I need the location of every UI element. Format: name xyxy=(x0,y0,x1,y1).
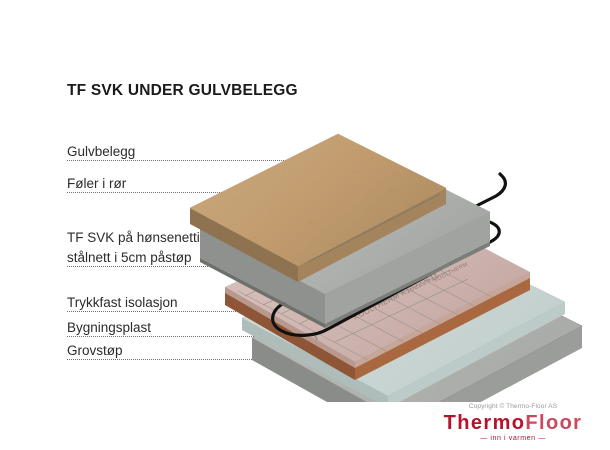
brand-tagline: — inn i varmen — xyxy=(428,435,598,442)
callout-trykkfast-isolasjon: Trykkfast isolasjon xyxy=(67,293,181,312)
callout-gulvbelegg: Gulvbelegg xyxy=(67,142,138,161)
page-title: TF SVK UNDER GULVBELEGG xyxy=(67,82,298,100)
brand-part-floor: Floor xyxy=(525,412,582,434)
callout-foler-i-ror: Føler i rør xyxy=(67,174,129,193)
callout-label: Bygningsplast xyxy=(67,320,154,335)
callout-label: Grovstøp xyxy=(67,343,126,358)
brand-wordmark: ThermoFloor xyxy=(428,412,598,434)
thermofloor-logo: Copyright © Thermo-Floor AS ThermoFloor … xyxy=(428,403,598,442)
callout-bygningsplast: Bygningsplast xyxy=(67,318,154,337)
callout-tf-svk-line2: stålnett i 5cm påstøp xyxy=(67,248,195,267)
callout-grovstop: Grovstøp xyxy=(67,341,126,360)
copyright-text: Copyright © Thermo-Floor AS xyxy=(428,403,598,410)
callout-label: stålnett i 5cm påstøp xyxy=(67,250,195,265)
callout-label: Trykkfast isolasjon xyxy=(67,295,181,310)
callout-label: Føler i rør xyxy=(67,176,129,191)
callout-label: Gulvbelegg xyxy=(67,144,138,159)
floor-buildup-illustration: KOOLTHERM K10222611 KOOLTHERM xyxy=(190,112,590,402)
slide-canvas: TF SVK UNDER GULVBELEGG Gulvbelegg Føler… xyxy=(0,0,610,450)
brand-part-thermo: Thermo xyxy=(444,412,526,434)
